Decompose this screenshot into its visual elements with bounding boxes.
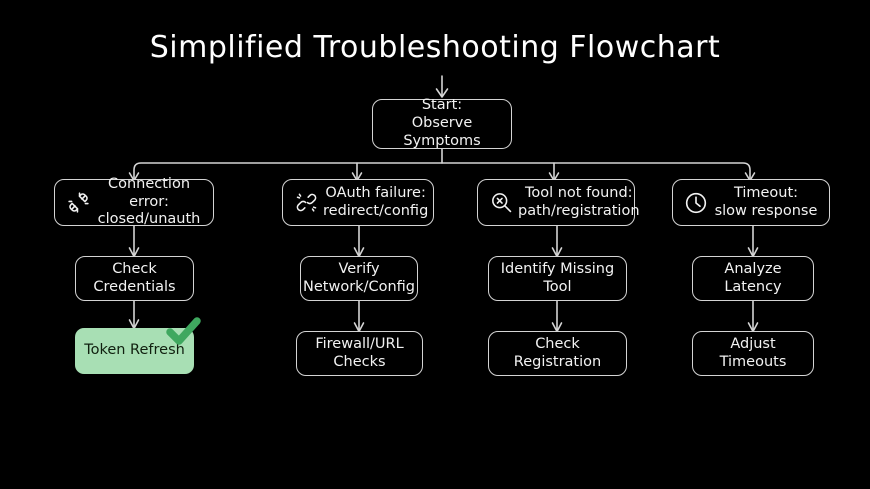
node-check-credentials[interactable]: Check Credentials bbox=[75, 256, 194, 301]
node-connection-error[interactable]: Connection error: closed/unauth bbox=[54, 179, 214, 226]
node-check-registration-label: Check Registration bbox=[495, 336, 620, 371]
node-tool-not-found[interactable]: Tool not found: path/registration bbox=[477, 179, 635, 226]
node-connection-error-label: Connection error: closed/unauth bbox=[95, 176, 207, 229]
node-analyze-latency[interactable]: Analyze Latency bbox=[692, 256, 814, 301]
node-firewall-url-checks-label: Firewall/URL Checks bbox=[315, 336, 403, 371]
node-start[interactable]: Start: Observe Symptoms bbox=[372, 99, 512, 149]
node-check-registration[interactable]: Check Registration bbox=[488, 331, 627, 376]
node-adjust-timeouts-label: Adjust Timeouts bbox=[699, 336, 807, 371]
clock-icon bbox=[681, 188, 711, 218]
node-token-refresh[interactable]: Token Refresh bbox=[75, 328, 194, 374]
node-oauth-failure-label: OAuth failure: redirect/config bbox=[323, 185, 432, 220]
node-start-label: Start: Observe Symptoms bbox=[379, 97, 505, 150]
node-identify-missing-tool[interactable]: Identify Missing Tool bbox=[488, 256, 627, 301]
node-adjust-timeouts[interactable]: Adjust Timeouts bbox=[692, 331, 814, 376]
node-timeout[interactable]: Timeout: slow response bbox=[672, 179, 830, 226]
broken-plug-icon bbox=[63, 188, 93, 218]
node-token-refresh-label: Token Refresh bbox=[84, 342, 185, 360]
flowchart-canvas: Simplified Troubleshooting Flowchart bbox=[0, 0, 870, 489]
search-x-icon bbox=[486, 188, 516, 218]
node-firewall-url-checks[interactable]: Firewall/URL Checks bbox=[296, 331, 423, 376]
node-tool-not-found-label: Tool not found: path/registration bbox=[518, 185, 644, 220]
node-oauth-failure[interactable]: OAuth failure: redirect/config bbox=[282, 179, 434, 226]
node-verify-network-config-label: Verify Network/Config bbox=[303, 261, 415, 296]
broken-link-icon bbox=[291, 188, 321, 218]
connector-lines bbox=[0, 0, 870, 489]
node-check-credentials-label: Check Credentials bbox=[82, 261, 187, 296]
node-identify-missing-tool-label: Identify Missing Tool bbox=[495, 261, 620, 296]
node-analyze-latency-label: Analyze Latency bbox=[699, 261, 807, 296]
node-timeout-label: Timeout: slow response bbox=[713, 185, 823, 220]
node-verify-network-config[interactable]: Verify Network/Config bbox=[300, 256, 418, 301]
page-title: Simplified Troubleshooting Flowchart bbox=[0, 30, 870, 65]
